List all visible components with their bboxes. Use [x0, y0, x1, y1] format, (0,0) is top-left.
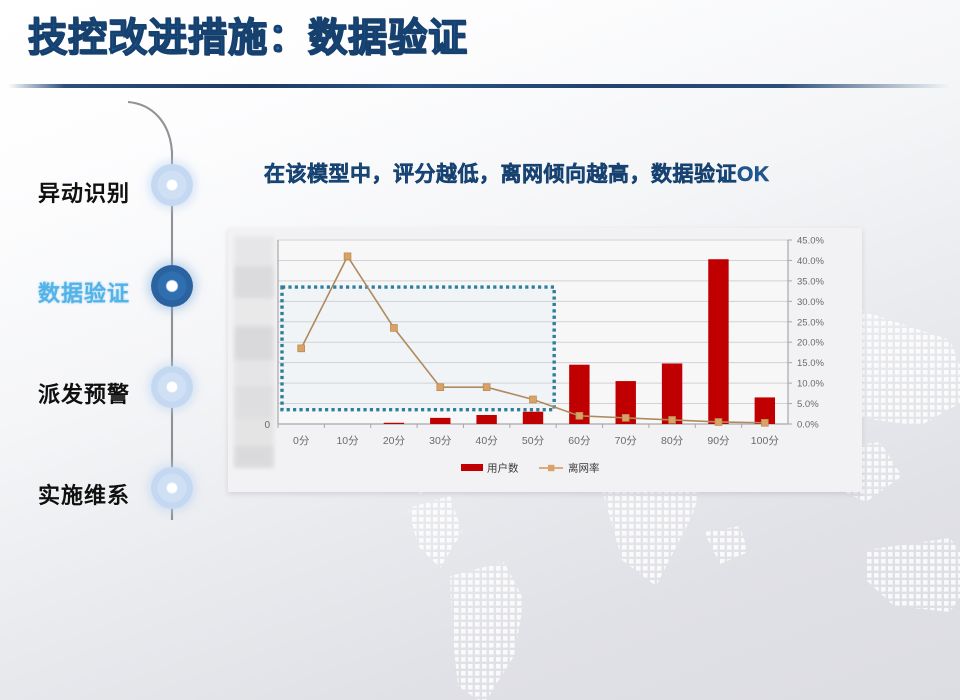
svg-text:40.0%: 40.0%	[797, 256, 824, 267]
svg-text:40分: 40分	[476, 435, 499, 447]
slide-header: 技控改进措施：数据验证	[0, 0, 960, 90]
slide-root: 技控改进措施：数据验证 异动识别 数据验证 派发预警 实施维系 在该模型中，评分…	[0, 0, 960, 700]
chart-card: 00.0%5.0%10.0%15.0%20.0%25.0%30.0%35.0%4…	[228, 228, 862, 492]
sidebar-item-label-3[interactable]: 实施维系	[38, 478, 130, 510]
svg-text:100分: 100分	[751, 435, 780, 447]
timeline-curve-icon	[0, 100, 225, 520]
svg-text:0分: 0分	[293, 435, 310, 447]
header-divider	[8, 84, 952, 88]
sidebar-item-label-0[interactable]: 异动识别	[38, 176, 130, 208]
svg-text:25.0%: 25.0%	[797, 317, 824, 328]
svg-text:90分: 90分	[707, 435, 730, 447]
svg-text:20.0%: 20.0%	[797, 338, 824, 349]
timeline-dot-2[interactable]	[151, 366, 193, 408]
svg-text:离网率: 离网率	[568, 462, 600, 475]
chart-plot: 00.0%5.0%10.0%15.0%20.0%25.0%30.0%35.0%4…	[228, 228, 862, 492]
svg-text:60分: 60分	[568, 435, 591, 447]
timeline-dot-3[interactable]	[151, 467, 193, 509]
sidebar-item-label-1[interactable]: 数据验证	[38, 276, 130, 308]
svg-text:45.0%: 45.0%	[797, 236, 824, 247]
svg-text:5.0%: 5.0%	[797, 399, 819, 410]
page-title: 技控改进措施：数据验证	[28, 7, 468, 63]
timeline-nav: 异动识别 数据验证 派发预警 实施维系	[0, 100, 225, 520]
sidebar-item-label-2[interactable]: 派发预警	[38, 377, 130, 409]
svg-text:用户数: 用户数	[487, 462, 519, 475]
svg-text:30.0%: 30.0%	[797, 297, 824, 308]
svg-text:80分: 80分	[661, 435, 684, 447]
svg-text:30分: 30分	[429, 435, 452, 447]
svg-text:10分: 10分	[336, 435, 359, 447]
chart-subtitle: 在该模型中，评分越低，离网倾向越高，数据验证OK	[264, 158, 770, 188]
svg-text:50分: 50分	[522, 435, 545, 447]
svg-text:20分: 20分	[383, 435, 406, 447]
timeline-dot-0[interactable]	[151, 164, 193, 206]
svg-text:10.0%: 10.0%	[797, 379, 824, 390]
svg-text:0.0%: 0.0%	[797, 420, 819, 431]
timeline-dot-1[interactable]	[151, 265, 193, 307]
svg-text:0: 0	[264, 420, 270, 431]
svg-text:70分: 70分	[615, 435, 638, 447]
svg-text:35.0%: 35.0%	[797, 276, 824, 287]
svg-text:15.0%: 15.0%	[797, 358, 824, 369]
